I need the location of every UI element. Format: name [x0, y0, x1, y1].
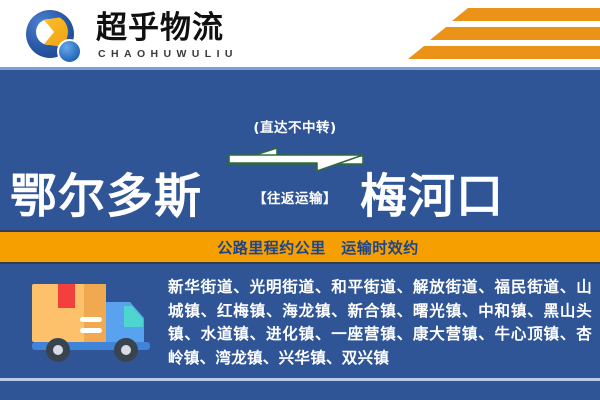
delivery-truck-icon: [28, 276, 160, 366]
route-note-bottom: 【往返运输】: [225, 187, 365, 207]
header: 超乎物流 CHAOHUWULIU: [0, 0, 600, 70]
stripe-3: [408, 46, 600, 59]
double-headed-arrow-icon: [225, 142, 365, 176]
circle-crescent-logo-icon: [24, 8, 84, 64]
distance-duration-bar: 公路里程约公里 运输时效约: [0, 232, 600, 262]
coverage-section: 新华街道、光明街道、和平街道、解放街道、福民街道、山城镇、红梅镇、海龙镇、新合镇…: [0, 264, 600, 378]
origin-city: 鄂尔多斯: [10, 158, 202, 227]
brand-name-cn: 超乎物流: [96, 11, 238, 45]
route-section: 鄂尔多斯 (直达不中转) 【往返运输】 梅河口: [0, 70, 600, 230]
arrow-svg: [225, 142, 365, 176]
logo-sphere-shape: [57, 39, 82, 64]
decorative-stripes: [340, 6, 600, 64]
logistics-route-banner: 超乎物流 CHAOHUWULIU 鄂尔多斯 (直达不中转): [0, 0, 600, 400]
stripe-1: [452, 8, 600, 21]
brand-name-en: CHAOHUWULIU: [98, 47, 238, 61]
brand-text: 超乎物流 CHAOHUWULIU: [96, 11, 238, 61]
brand-logo: 超乎物流 CHAOHUWULIU: [24, 8, 238, 64]
stripe-2: [430, 27, 600, 40]
distance-duration-text: 公路里程约公里 运输时效约: [181, 237, 419, 258]
coverage-area-list: 新华街道、光明街道、和平街道、解放街道、福民街道、山城镇、红梅镇、海龙镇、新合镇…: [168, 276, 592, 370]
route-middle: (直达不中转) 【往返运输】: [225, 110, 365, 220]
route-note-top: (直达不中转): [225, 116, 365, 136]
bottom-strip: [0, 381, 600, 400]
destination-city: 梅河口: [360, 158, 504, 227]
